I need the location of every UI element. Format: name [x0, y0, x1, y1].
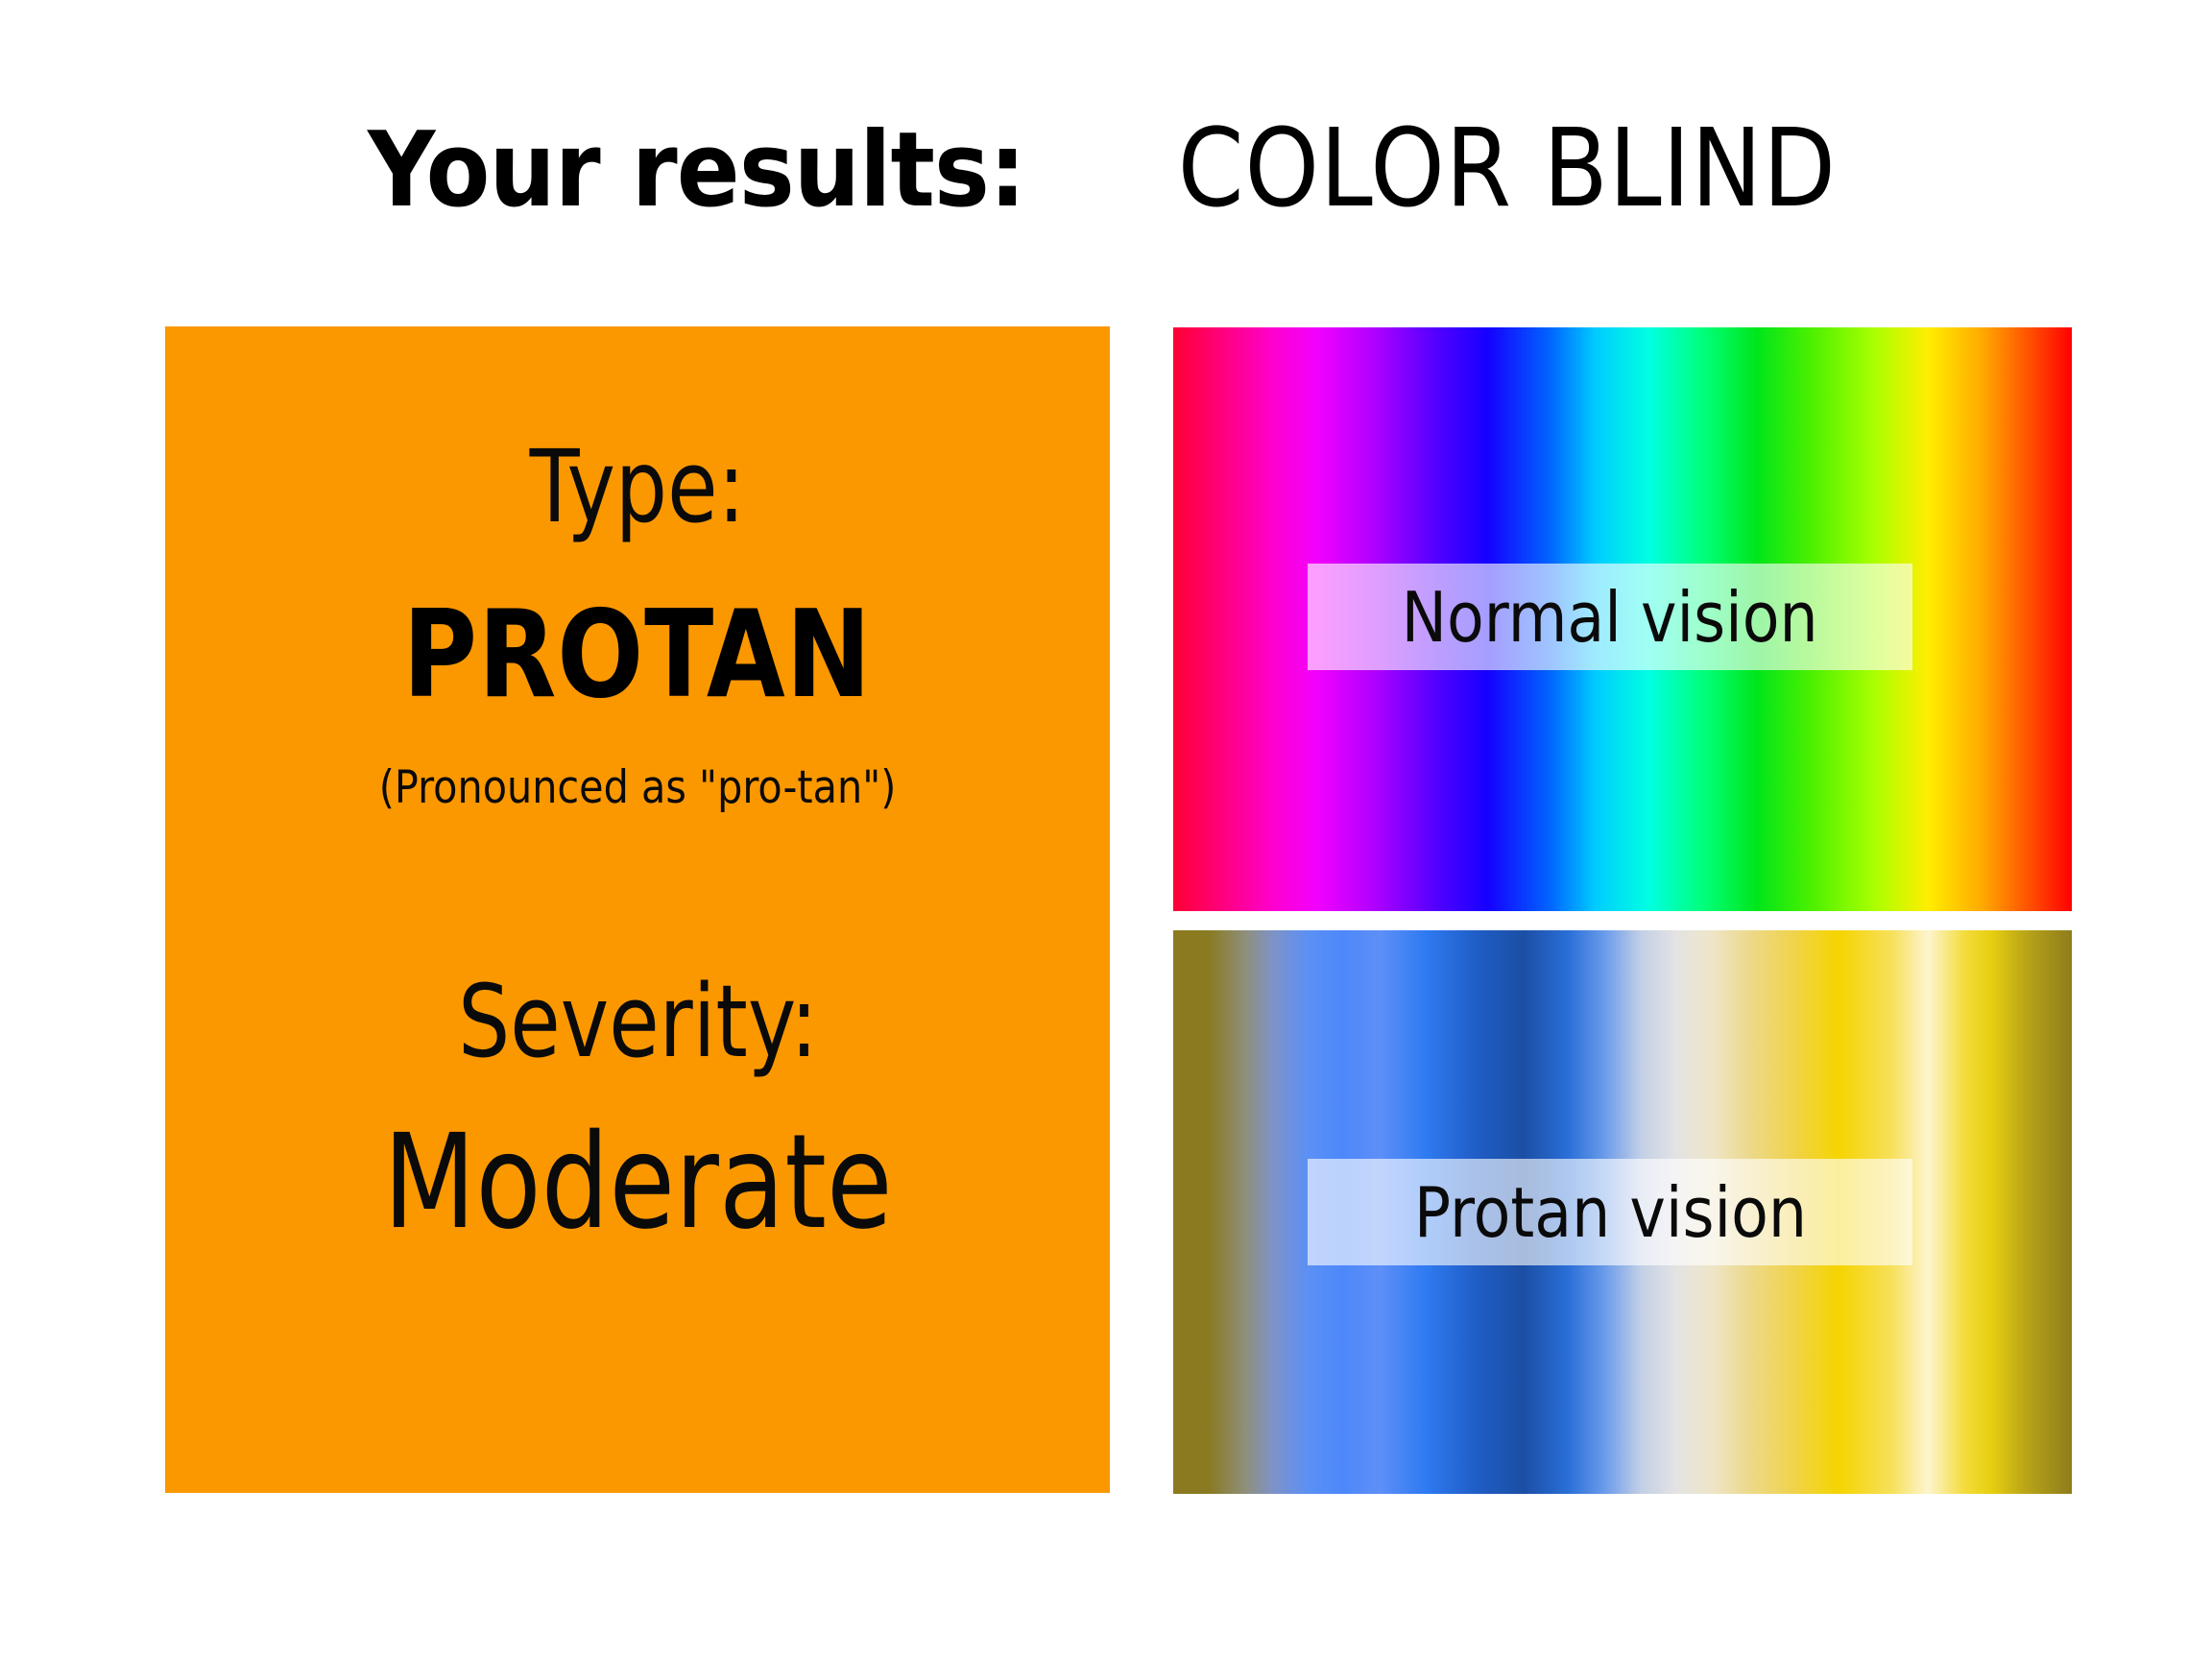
normal-vision-label: Normal vision — [1402, 583, 1818, 652]
severity-label: Severity: — [458, 972, 818, 1071]
page-title: Your results: — [368, 119, 1025, 223]
page-header: Your results: COLOR BLIND — [0, 115, 2212, 250]
results-panel: Type: PROTAN (Pronounced as "pro-tan") S… — [165, 326, 1110, 1493]
normal-vision-swatch: Normal vision — [1173, 327, 2072, 911]
type-label: Type: — [530, 437, 746, 537]
severity-value: Moderate — [383, 1118, 892, 1248]
protan-vision-label-band: Protan vision — [1308, 1159, 1912, 1265]
type-value: PROTAN — [403, 594, 873, 715]
protan-vision-swatch: Protan vision — [1173, 930, 2072, 1494]
condition-title: COLOR BLIND — [1177, 115, 1836, 223]
normal-vision-label-band: Normal vision — [1308, 564, 1912, 670]
type-pronunciation: (Pronounced as "pro-tan") — [379, 765, 897, 810]
protan-vision-label: Protan vision — [1413, 1178, 1806, 1247]
